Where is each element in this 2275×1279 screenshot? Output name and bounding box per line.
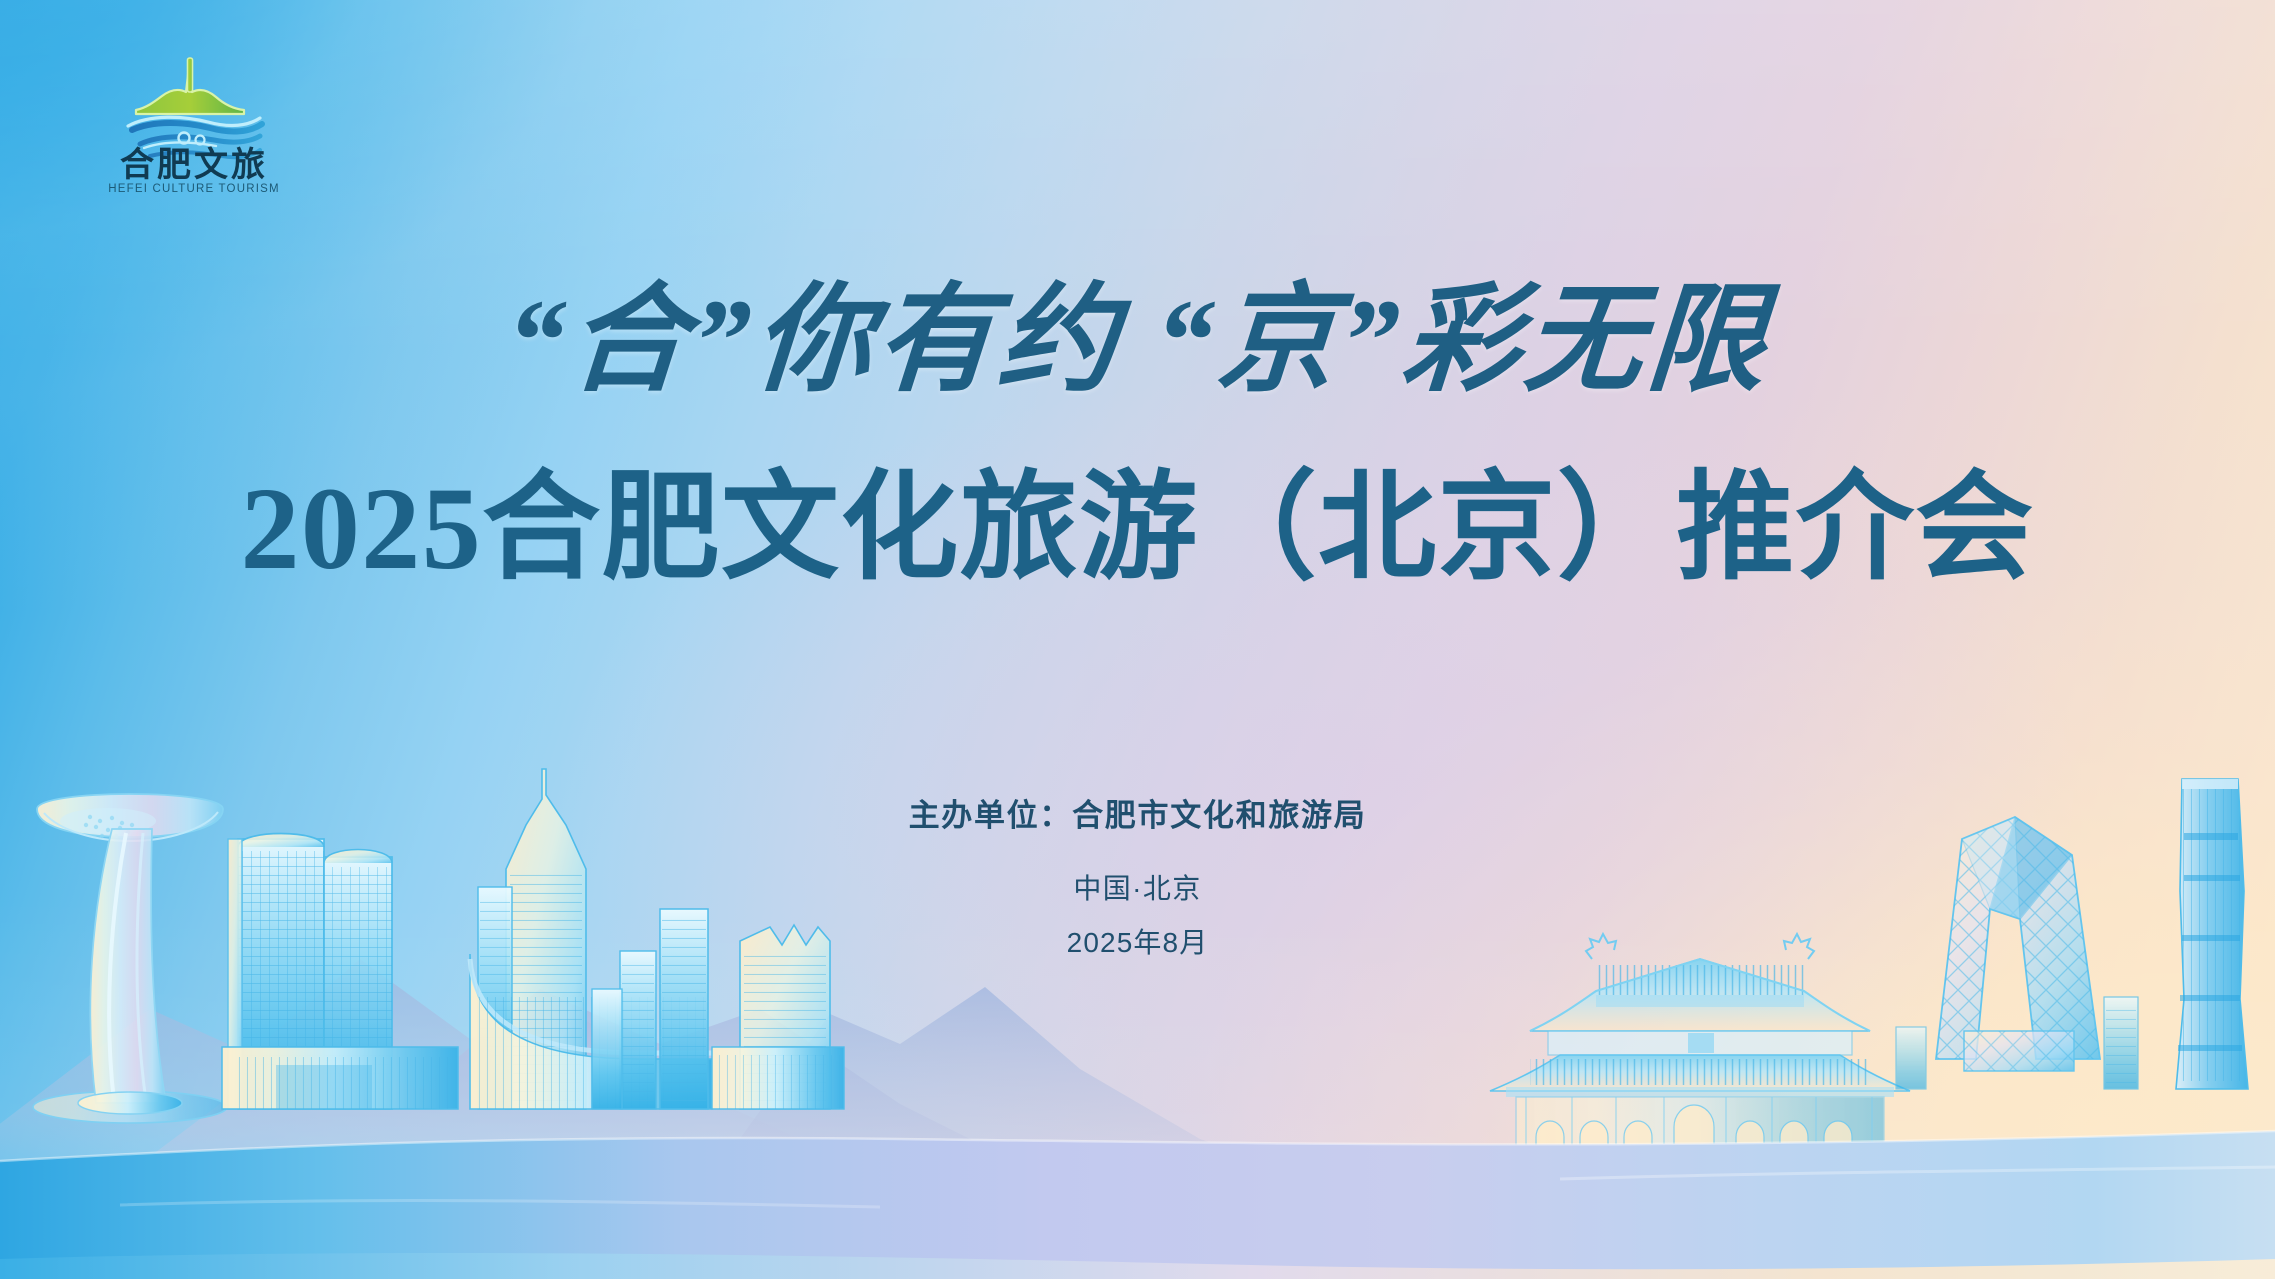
poster-canvas: 合肥文旅 HEFEI CULTURE TOURISM “合”你有约 “京”彩无限… [0, 0, 2275, 1279]
mountain-and-river-icon [128, 58, 262, 157]
credits-block: 主办单位：合肥市文化和旅游局 中国·北京 2025年8月 [0, 800, 2275, 957]
date-line: 2025年8月 [0, 929, 2275, 957]
hefei-culture-tourism-logo[interactable]: 合肥文旅 HEFEI CULTURE TOURISM [88, 52, 300, 194]
poster-headline: “合”你有约 “京”彩无限 [0, 282, 2275, 400]
location-line: 中国·北京 [0, 875, 2275, 903]
poster-subtitle: 2025合肥文化旅游（北京）推介会 [0, 470, 2275, 588]
logo-chinese-name: 合肥文旅 [120, 146, 268, 184]
logo-artwork: 合肥文旅 HEFEI CULTURE TOURISM [88, 52, 300, 194]
organizer-line: 主办单位：合肥市文化和旅游局 [0, 800, 2275, 831]
water-band [0, 1109, 2275, 1279]
logo-english-name: HEFEI CULTURE TOURISM [108, 183, 280, 194]
